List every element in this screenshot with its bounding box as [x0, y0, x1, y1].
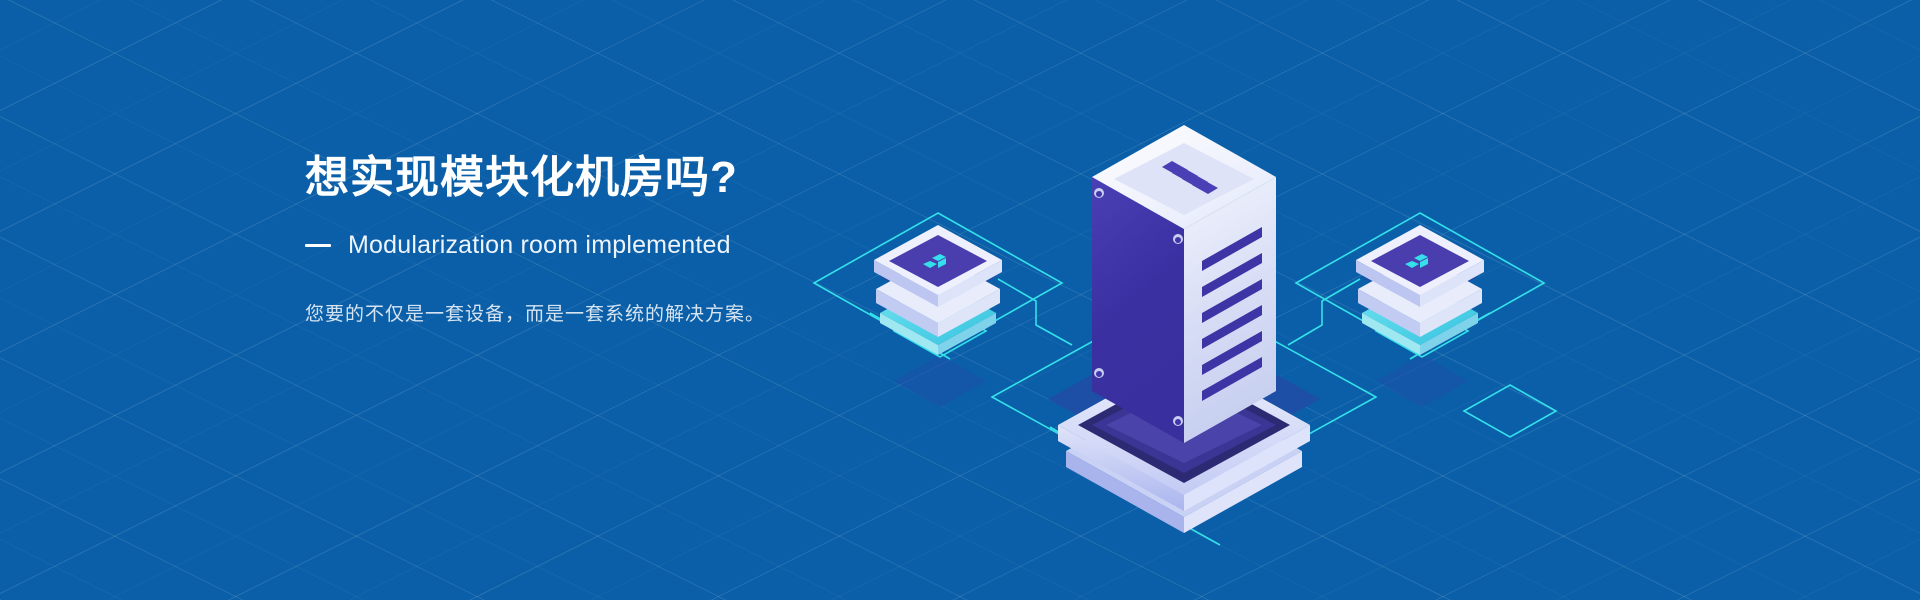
- chip-module-left: [874, 225, 1002, 355]
- subtitle: Modularization room implemented: [348, 231, 731, 260]
- dash-accent-icon: [305, 244, 331, 247]
- chip-module-right: [1356, 225, 1484, 355]
- hero-banner: 想实现模块化机房吗? Modularization room implement…: [0, 0, 1920, 600]
- illustration-isometric-server-room: [810, 55, 1570, 555]
- server-tower: [1092, 125, 1276, 443]
